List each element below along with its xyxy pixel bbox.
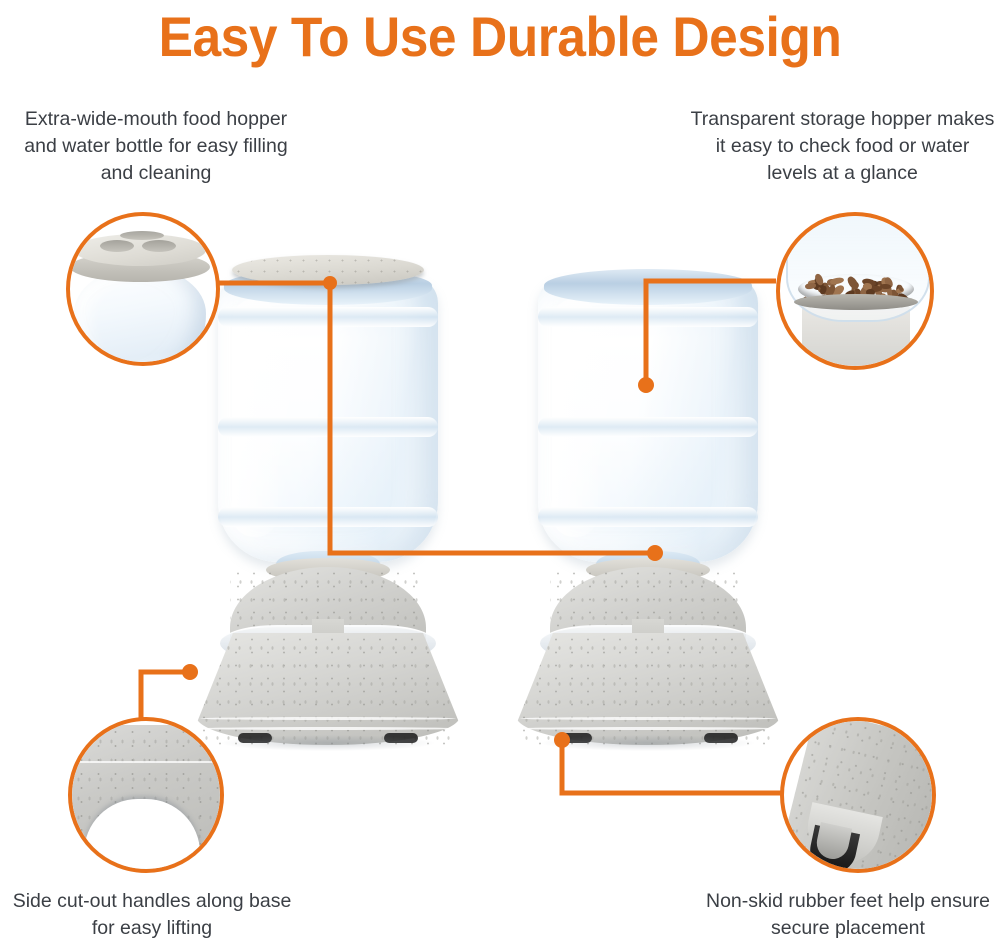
water-base xyxy=(196,567,460,745)
hopper-rib xyxy=(538,417,758,437)
lid-closeup-icon xyxy=(66,212,220,366)
handle-cutout-closeup-icon xyxy=(68,717,224,873)
closeup-lid-slot xyxy=(120,231,164,240)
bottle-rib xyxy=(218,417,438,437)
base-ring xyxy=(200,717,456,720)
rubber-foot-closeup-icon xyxy=(780,717,936,873)
callout-caption-bottom-left: Side cut-out handles along base for easy… xyxy=(4,888,300,942)
callout-caption-top-left: Extra-wide-mouth food hopper and water b… xyxy=(6,106,306,187)
callout-caption-bottom-right: Non-skid rubber feet help ensure secure … xyxy=(700,888,996,942)
lid-speckle-texture xyxy=(232,255,424,285)
water-bottle-lid xyxy=(232,255,424,285)
base-ring xyxy=(200,727,456,730)
foot-closeup-inner xyxy=(784,721,932,869)
handle-closeup-inner xyxy=(72,721,220,869)
closeup-rubber-foot xyxy=(188,861,220,869)
product-water-dispenser xyxy=(180,255,510,755)
base-ring xyxy=(520,727,776,730)
hopper-rib xyxy=(538,307,758,327)
page-title: Easy To Use Durable Design xyxy=(40,0,960,72)
base-ring xyxy=(520,717,776,720)
closeup-bottle-body xyxy=(74,268,206,362)
hopper-rib xyxy=(538,507,758,527)
product-food-feeder xyxy=(500,255,830,755)
closeup-lid-slot xyxy=(142,240,176,252)
feeder-base xyxy=(516,567,780,745)
bottle-rib xyxy=(218,507,438,527)
hopper-kibble-closeup-icon xyxy=(776,212,934,370)
callout-caption-top-right: Transparent storage hopper makes it easy… xyxy=(690,106,995,187)
closeup-base-ridge xyxy=(72,761,220,763)
hopper-closeup-inner xyxy=(780,216,930,366)
hopper-open-mouth xyxy=(544,269,752,305)
closeup-lid-slot xyxy=(100,240,134,252)
lid-closeup-inner xyxy=(70,216,216,362)
base-drop-shadow xyxy=(542,735,754,751)
kibble-piece xyxy=(829,276,844,285)
closeup-hopper-rim xyxy=(794,294,918,310)
base-drop-shadow xyxy=(222,735,434,751)
bottle-rib xyxy=(218,307,438,327)
